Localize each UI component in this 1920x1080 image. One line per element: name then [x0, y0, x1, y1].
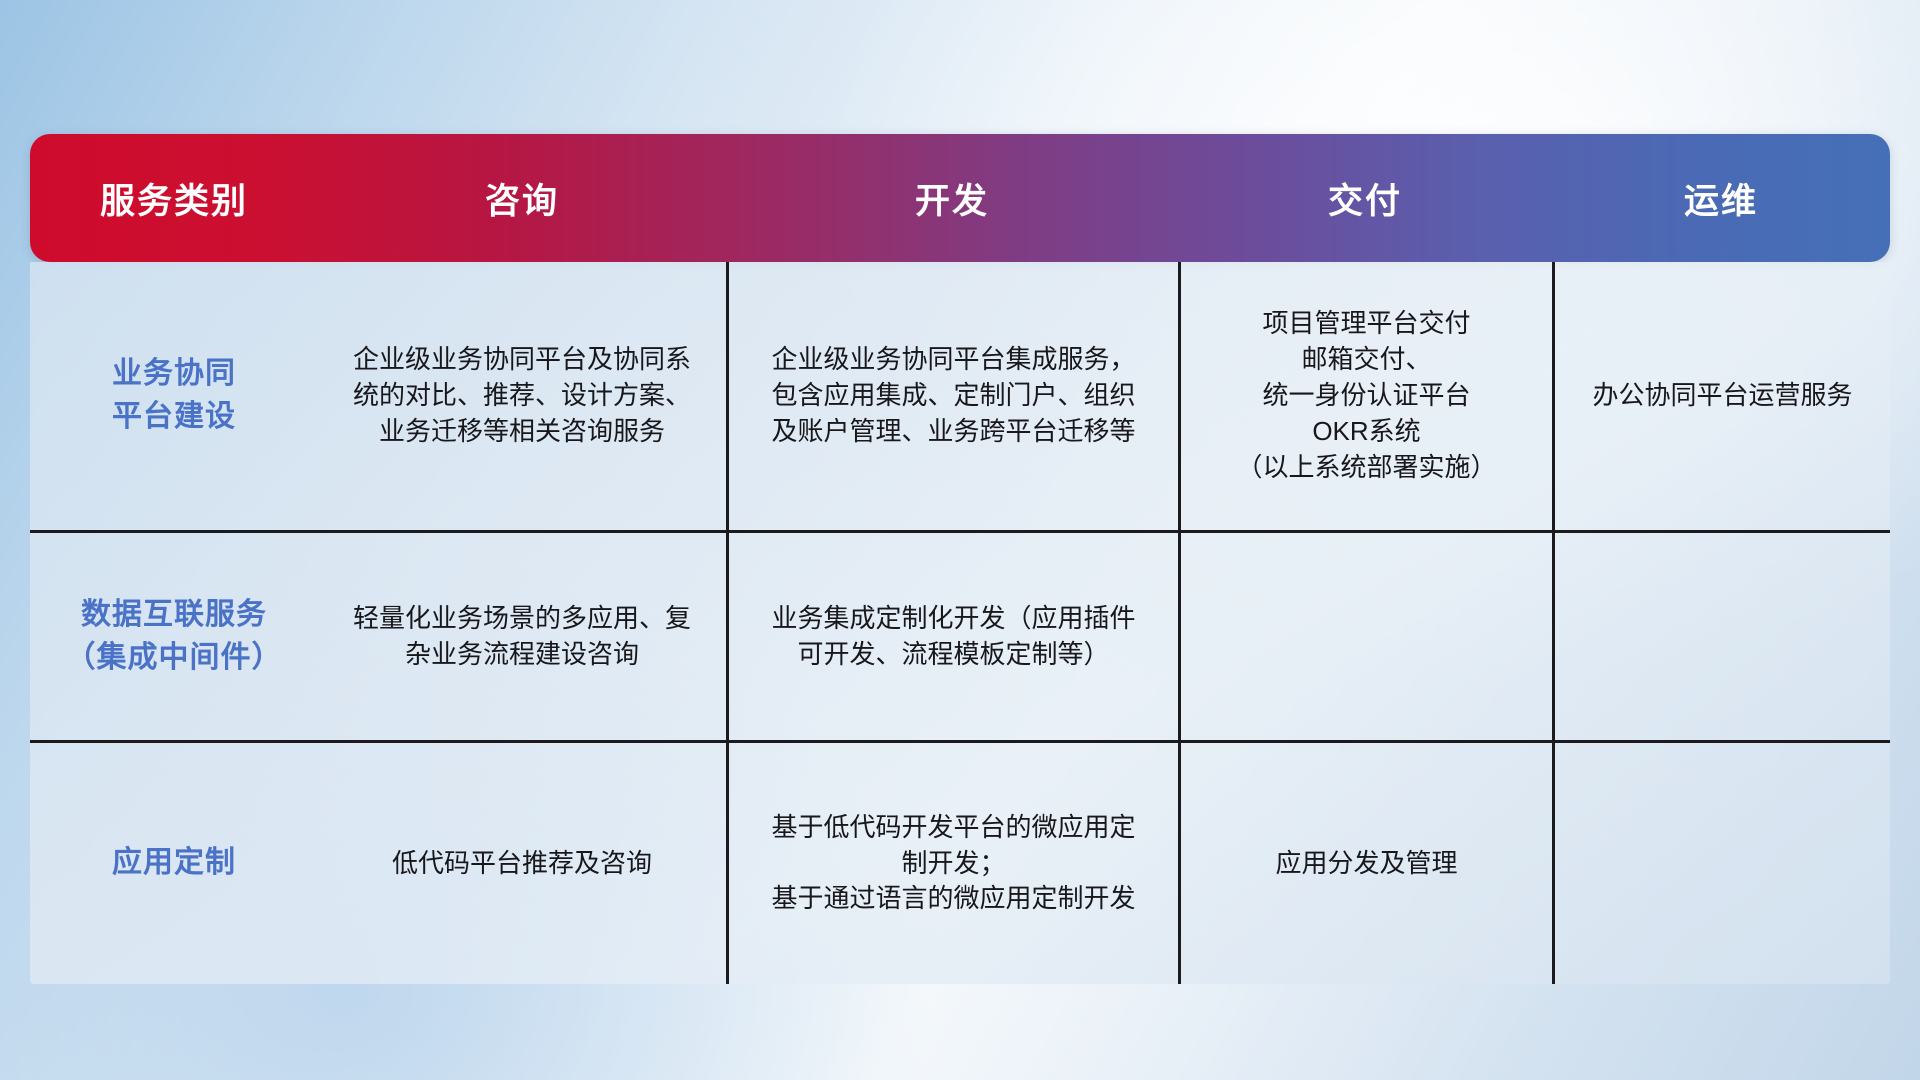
cell-line: 企业级业务协同平台集成服务， — [743, 342, 1164, 378]
cell-line: 低代码平台推荐及咨询 — [332, 846, 712, 882]
cell-line: 及账户管理、业务跨平台迁移等 — [743, 414, 1164, 450]
cell-operations — [1552, 533, 1890, 740]
row-category-label: 应用定制 — [30, 743, 318, 984]
cell-line: 制开发； — [743, 846, 1164, 882]
table-header-row: 服务类别 咨询 开发 交付 运维 — [30, 134, 1890, 262]
cell-line: 企业级业务协同平台及协同系 — [332, 342, 712, 378]
table-body: 业务协同 平台建设 企业级业务协同平台及协同系 统的对比、推荐、设计方案、 业务… — [30, 262, 1890, 984]
cell-line: 统一身份认证平台 — [1195, 378, 1538, 414]
cell-line: 应用分发及管理 — [1195, 846, 1538, 882]
table-row: 应用定制 低代码平台推荐及咨询 基于低代码开发平台的微应用定 制开发； 基于通过… — [30, 740, 1890, 984]
cell-line: 包含应用集成、定制门户、组织 — [743, 378, 1164, 414]
service-matrix-table: 服务类别 咨询 开发 交付 运维 业务协同 平台建设 企业级业务协同平台及协同系… — [30, 134, 1890, 956]
column-header-consulting: 咨询 — [318, 173, 726, 224]
cell-consulting: 低代码平台推荐及咨询 — [318, 743, 726, 984]
column-header-delivery: 交付 — [1178, 173, 1552, 224]
cell-line: 统的对比、推荐、设计方案、 — [332, 378, 712, 414]
cell-consulting: 企业级业务协同平台及协同系 统的对比、推荐、设计方案、 业务迁移等相关咨询服务 — [318, 262, 726, 530]
cell-line: 基于低代码开发平台的微应用定 — [743, 810, 1164, 846]
category-line: （集成中间件） — [44, 637, 304, 680]
cell-line: 业务迁移等相关咨询服务 — [332, 414, 712, 450]
table-row: 数据互联服务 （集成中间件） 轻量化业务场景的多应用、复 杂业务流程建设咨询 业… — [30, 530, 1890, 740]
cell-development: 业务集成定制化开发（应用插件 可开发、流程模板定制等） — [726, 533, 1178, 740]
cell-line: 可开发、流程模板定制等） — [743, 637, 1164, 673]
cell-delivery: 应用分发及管理 — [1178, 743, 1552, 984]
category-line: 业务协同 — [44, 353, 304, 396]
cell-line: 轻量化业务场景的多应用、复 — [332, 601, 712, 637]
cell-line: 办公协同平台运营服务 — [1569, 378, 1876, 414]
cell-line: 邮箱交付、 — [1195, 342, 1538, 378]
category-line: 数据互联服务 — [44, 594, 304, 637]
column-header-development: 开发 — [726, 173, 1178, 224]
cell-line: 项目管理平台交付 — [1195, 306, 1538, 342]
cell-delivery — [1178, 533, 1552, 740]
cell-line: （以上系统部署实施） — [1195, 450, 1538, 486]
cell-development: 企业级业务协同平台集成服务， 包含应用集成、定制门户、组织 及账户管理、业务跨平… — [726, 262, 1178, 530]
cell-consulting: 轻量化业务场景的多应用、复 杂业务流程建设咨询 — [318, 533, 726, 740]
category-line: 应用定制 — [44, 842, 304, 885]
column-header-category: 服务类别 — [30, 173, 318, 224]
cell-delivery: 项目管理平台交付 邮箱交付、 统一身份认证平台 OKR系统 （以上系统部署实施） — [1178, 262, 1552, 530]
cell-line: 基于通过语言的微应用定制开发 — [743, 881, 1164, 917]
column-header-operations: 运维 — [1552, 173, 1890, 224]
row-category-label: 数据互联服务 （集成中间件） — [30, 533, 318, 740]
cell-development: 基于低代码开发平台的微应用定 制开发； 基于通过语言的微应用定制开发 — [726, 743, 1178, 984]
cell-line: OKR系统 — [1195, 414, 1538, 450]
cell-line: 杂业务流程建设咨询 — [332, 637, 712, 673]
cell-operations — [1552, 743, 1890, 984]
cell-line: 业务集成定制化开发（应用插件 — [743, 601, 1164, 637]
table-row: 业务协同 平台建设 企业级业务协同平台及协同系 统的对比、推荐、设计方案、 业务… — [30, 262, 1890, 530]
row-category-label: 业务协同 平台建设 — [30, 262, 318, 530]
cell-operations: 办公协同平台运营服务 — [1552, 262, 1890, 530]
category-line: 平台建设 — [44, 396, 304, 439]
